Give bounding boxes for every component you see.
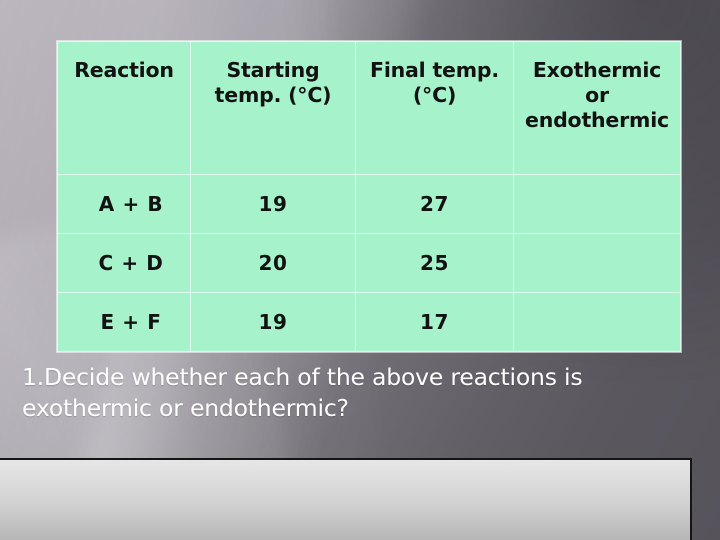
column-header-starting-temp-line2: temp. (°C)	[215, 83, 332, 107]
cell-final-temp: 25	[356, 234, 514, 293]
table-row: A + B 19 27	[58, 175, 681, 234]
reaction-temperature-table: Reaction Starting temp. (°C) Final temp.…	[57, 41, 681, 352]
column-header-reaction-type: Exothermic or endothermic	[514, 42, 681, 175]
table-body: A + B 19 27 C + D 20 25 E + F 19 17	[58, 175, 681, 352]
column-header-reaction-type-line1: Exothermic	[533, 58, 661, 82]
column-header-final-temp-line1: Final temp.	[370, 58, 499, 82]
cell-starting-temp: 20	[191, 234, 356, 293]
column-header-reaction-type-line2: or	[585, 83, 609, 107]
cell-final-temp: 27	[356, 175, 514, 234]
column-header-reaction-type-line3: endothermic	[525, 108, 669, 132]
cell-reaction-type-answer[interactable]	[514, 234, 681, 293]
cell-starting-temp: 19	[191, 175, 356, 234]
column-header-reaction: Reaction	[58, 42, 191, 175]
table-header: Reaction Starting temp. (°C) Final temp.…	[58, 42, 681, 175]
slide-canvas: Reaction Starting temp. (°C) Final temp.…	[0, 0, 720, 540]
column-header-reaction-line1: Reaction	[74, 58, 174, 82]
cell-reaction-type-answer[interactable]	[514, 293, 681, 352]
cell-reaction-type-answer[interactable]	[514, 175, 681, 234]
cell-reaction: A + B	[58, 175, 191, 234]
bottom-panel	[0, 458, 692, 540]
cell-starting-temp: 19	[191, 293, 356, 352]
table-row: C + D 20 25	[58, 234, 681, 293]
column-header-starting-temp: Starting temp. (°C)	[191, 42, 356, 175]
table-row: E + F 19 17	[58, 293, 681, 352]
column-header-final-temp-line2: (°C)	[413, 83, 456, 107]
table-header-row: Reaction Starting temp. (°C) Final temp.…	[58, 42, 681, 175]
question-text: 1.Decide whether each of the above react…	[22, 362, 682, 425]
column-header-final-temp: Final temp. (°C)	[356, 42, 514, 175]
cell-reaction: E + F	[58, 293, 191, 352]
cell-reaction: C + D	[58, 234, 191, 293]
cell-final-temp: 17	[356, 293, 514, 352]
column-header-starting-temp-line1: Starting	[226, 58, 319, 82]
